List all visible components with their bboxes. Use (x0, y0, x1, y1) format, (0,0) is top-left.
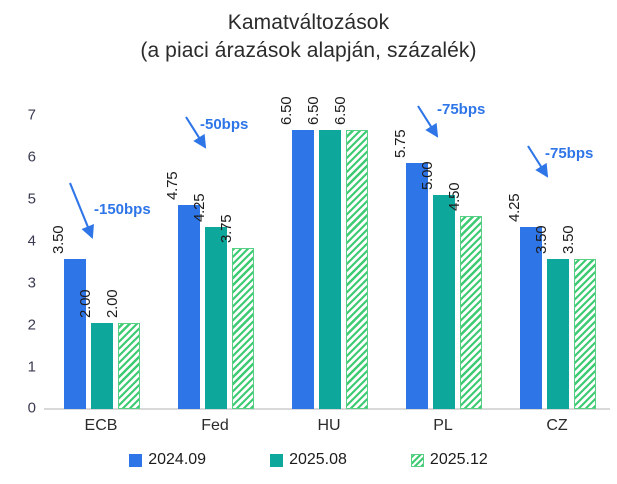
x-label-pl: PL (383, 417, 503, 435)
legend-item-2025-08[interactable]: 2025.08 (270, 452, 347, 468)
annotation-arrows (0, 0, 617, 484)
legend-swatch-icon-2025-12 (411, 454, 424, 467)
annotation-label-cz: -75bps (545, 146, 593, 161)
legend-swatch-icon-2025-08 (270, 454, 283, 467)
annotation-label-ecb: -150bps (94, 202, 151, 217)
legend-item-2024-09[interactable]: 2024.09 (129, 452, 206, 468)
legend-label-2025-08: 2025.08 (289, 452, 347, 468)
x-label-hu: HU (269, 417, 389, 435)
chart-legend: 2024.09 2025.08 2025.12 (0, 452, 617, 468)
legend-item-2025-12[interactable]: 2025.12 (411, 452, 488, 468)
x-label-ecb: ECB (41, 417, 161, 435)
annotation-label-fed: -50bps (200, 117, 248, 132)
legend-swatch-icon-2024-09 (129, 454, 142, 467)
annotation-arrow-pl (418, 106, 437, 136)
chart-container: Kamatváltozások (a piaci árazások alapjá… (0, 0, 617, 484)
x-label-cz: CZ (497, 417, 617, 435)
annotation-label-pl: -75bps (437, 102, 485, 117)
legend-label-2025-12: 2025.12 (430, 452, 488, 468)
x-label-fed: Fed (155, 417, 275, 435)
legend-label-2024-09: 2024.09 (148, 452, 206, 468)
annotation-arrow-ecb (70, 183, 92, 237)
